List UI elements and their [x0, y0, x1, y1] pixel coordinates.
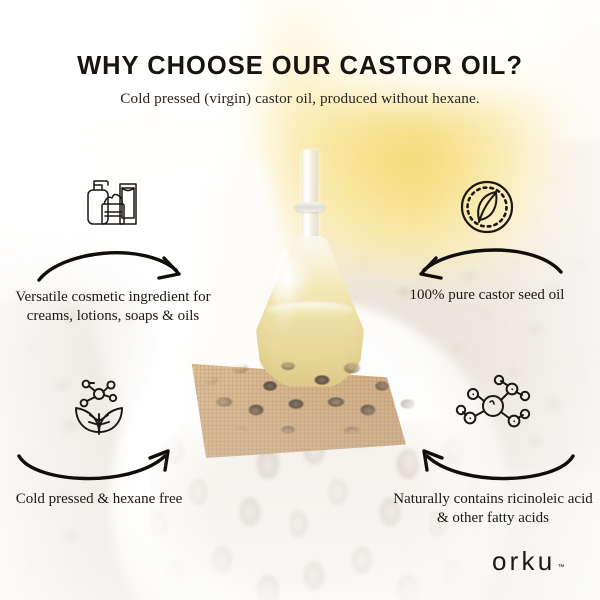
feature-label: Versatile cosmetic ingredient for creams… — [8, 288, 218, 326]
feature-ricinoleic-acid: Naturally contains ricinoleic acid & oth… — [388, 372, 598, 528]
leaf-badge-icon — [382, 176, 592, 238]
curved-arrow-right — [13, 440, 185, 490]
page-title: WHY CHOOSE OUR CASTOR OIL? — [0, 52, 600, 81]
feature-cold-pressed-hexane-free: Cold pressed & hexane free — [0, 374, 204, 509]
curved-arrow-left — [407, 238, 567, 286]
feature-label: 100% pure castor seed oil — [382, 286, 592, 305]
brand-logo: orku ™ — [492, 548, 564, 574]
molecule-icon — [388, 372, 598, 440]
molecule-leaf-icon — [0, 374, 204, 440]
castor-oil-infographic: WHY CHOOSE OUR CASTOR OIL? Cold pressed … — [0, 0, 600, 600]
cosmetic-bottles-icon — [8, 168, 218, 240]
infographic-content: WHY CHOOSE OUR CASTOR OIL? Cold pressed … — [0, 0, 600, 600]
feature-pure-castor-seed-oil: 100% pure castor seed oil — [382, 176, 592, 305]
curved-arrow-right — [33, 240, 193, 288]
brand-name: orku — [492, 548, 555, 574]
trademark-symbol: ™ — [557, 564, 564, 574]
feature-label: Cold pressed & hexane free — [0, 490, 204, 509]
page-subtitle: Cold pressed (virgin) castor oil, produc… — [0, 90, 600, 108]
feature-versatile-cosmetic: Versatile cosmetic ingredient for creams… — [8, 168, 218, 326]
curved-arrow-left — [407, 440, 579, 490]
feature-label: Naturally contains ricinoleic acid & oth… — [388, 490, 598, 528]
